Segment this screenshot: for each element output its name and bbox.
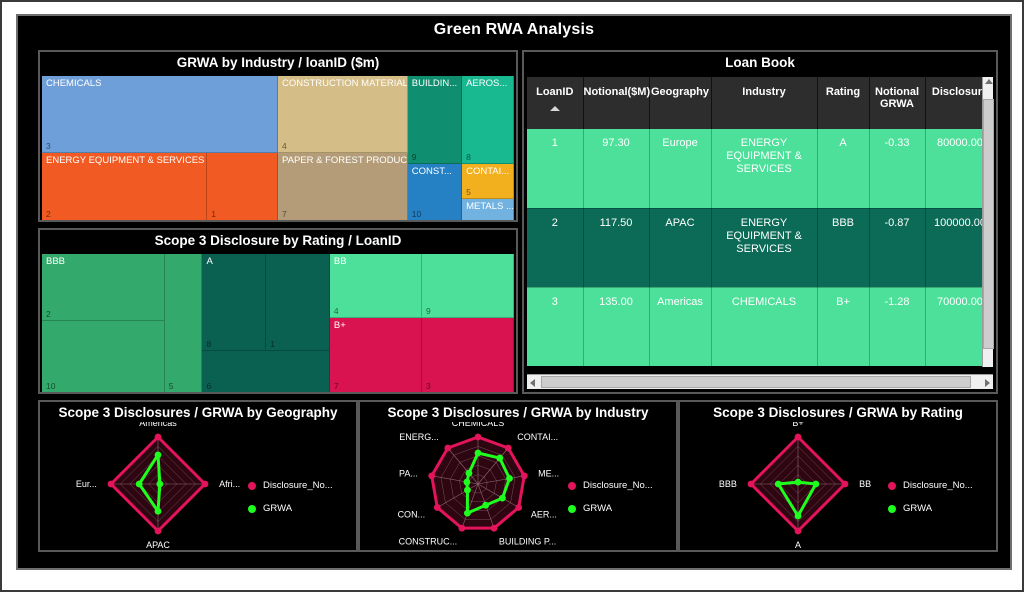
scroll-left-arrow-icon[interactable] xyxy=(530,379,535,387)
table-row[interactable]: 3135.00AmericasCHEMICALSB+-1.2870000.00 xyxy=(527,287,982,366)
treemap-tile-id: 8 xyxy=(466,152,471,162)
cell-industry: CHEMICALS xyxy=(711,287,817,366)
treemap-tile[interactable]: 6 xyxy=(202,351,329,393)
treemap-tile-id: 7 xyxy=(282,209,287,219)
radar-data-point xyxy=(155,451,162,458)
cell-industry: ENERGY EQUIPMENT & SERVICES xyxy=(711,208,817,287)
treemap-tile-id: 4 xyxy=(282,141,287,151)
radar-axis-label: CON... xyxy=(398,510,426,520)
col-header-notional[interactable]: Notional($M) xyxy=(583,77,649,129)
legend-swatch-icon xyxy=(248,505,256,513)
col-label-notional-grwa-l2: GRWA xyxy=(880,98,914,110)
treemap-tile-id: 9 xyxy=(412,152,417,162)
radar-data-point xyxy=(155,434,162,441)
treemap-tile-id: 8 xyxy=(206,339,211,349)
treemap-tile[interactable]: AEROS...8 xyxy=(462,76,514,164)
col-header-disclosure[interactable]: Disclosure xyxy=(925,77,982,129)
radar-data-point xyxy=(108,481,115,488)
radar-legend: Disclosure_No...GRWA xyxy=(888,480,973,526)
treemap-tile-id: 7 xyxy=(334,381,339,391)
treemap-tile-label: CONSTRUCTION MATERIALS xyxy=(282,78,408,89)
radar-data-point xyxy=(496,455,503,462)
cell-geography: APAC xyxy=(649,208,711,287)
legend-item[interactable]: Disclosure_No... xyxy=(568,480,653,491)
loan-book-table[interactable]: LoanID Notional($M) Geography Industry R… xyxy=(527,77,982,367)
cell-geography: Americas xyxy=(649,287,711,366)
legend-swatch-icon xyxy=(568,482,576,490)
treemap-tile[interactable]: CONST...10 xyxy=(408,164,462,221)
total-label: Total xyxy=(527,366,583,367)
radar-axis-label: ENERG... xyxy=(399,432,439,442)
treemap-tile-label: B+ xyxy=(334,320,346,331)
treemap-tile-id: 10 xyxy=(46,381,55,391)
treemap-tile-id: 1 xyxy=(270,339,275,349)
panel-radar-rating[interactable]: Scope 3 Disclosures / GRWA by Rating B+B… xyxy=(678,400,998,552)
total-industry xyxy=(711,366,817,367)
treemap-tile-id: 5 xyxy=(466,187,471,197)
col-header-geography[interactable]: Geography xyxy=(649,77,711,129)
treemap-tile[interactable]: 1 xyxy=(207,153,278,221)
loan-book-table-area[interactable]: LoanID Notional($M) Geography Industry R… xyxy=(527,77,993,389)
legend-label: Disclosure_No... xyxy=(903,480,973,491)
radar-axis-label: B+ xyxy=(792,422,803,428)
panel-title-grwa-by-industry: GRWA by Industry / loanID ($m) xyxy=(40,52,516,74)
radar-axis-label: A xyxy=(795,540,801,550)
treemap-rating[interactable]: BBB2105A816BB49B+73 xyxy=(42,254,514,393)
treemap-tile[interactable]: METALS ... xyxy=(462,199,514,221)
radar-axis-label: Afri... xyxy=(219,479,240,489)
scroll-right-arrow-icon[interactable] xyxy=(985,379,990,387)
cell-notional-grwa: -0.33 xyxy=(869,129,925,208)
radar-data-point xyxy=(505,445,512,452)
radar-data-point xyxy=(434,504,441,511)
radar-data-point xyxy=(155,528,162,535)
vertical-scroll-thumb[interactable] xyxy=(983,99,994,349)
table-row[interactable]: 2117.50APACENERGY EQUIPMENT & SERVICESBB… xyxy=(527,208,982,287)
cell-loan-id: 1 xyxy=(527,129,583,208)
cell-disclosure: 70000.00 xyxy=(925,287,982,366)
panel-title-scope3-by-rating: Scope 3 Disclosure by Rating / LoanID xyxy=(40,230,516,252)
radar-axis-label: ME... xyxy=(538,468,559,478)
treemap-tile-label: METALS ... xyxy=(466,201,514,212)
radar-data-point xyxy=(842,481,849,488)
radar-data-point xyxy=(463,479,470,486)
treemap-tile-label: CONTAI... xyxy=(466,166,509,177)
treemap-tile[interactable]: CHEMICALS3 xyxy=(42,76,278,153)
radar-axis-label: BUILDING P... xyxy=(499,536,556,546)
cell-rating: B+ xyxy=(817,287,869,366)
treemap-tile[interactable]: PAPER & FOREST PRODUCTS7 xyxy=(278,153,408,221)
radar-axis-label: Eur... xyxy=(76,479,97,489)
radar-data-point xyxy=(444,445,451,452)
cell-loan-id: 2 xyxy=(527,208,583,287)
treemap-tile[interactable]: CONSTRUCTION MATERIALS4 xyxy=(278,76,408,153)
treemap-tile[interactable]: 1 xyxy=(266,254,330,351)
radar-data-point xyxy=(506,475,513,482)
treemap-tile[interactable]: 5 xyxy=(165,254,203,393)
treemap-tile-id: 4 xyxy=(334,306,339,316)
treemap-tile-id: 3 xyxy=(46,141,51,151)
radar-axis-label: CHEMICALS xyxy=(452,422,505,428)
treemap-tile[interactable]: BB4 xyxy=(330,254,422,318)
radar-axis-label: CONTAI... xyxy=(517,432,558,442)
radar-legend: Disclosure_No...GRWA xyxy=(568,480,653,526)
legend-label: GRWA xyxy=(583,503,612,514)
radar-data-point xyxy=(795,528,802,535)
horizontal-scroll-thumb[interactable] xyxy=(541,376,971,388)
radar-data-point xyxy=(156,481,163,488)
treemap-tile-label: AEROS... xyxy=(466,78,507,89)
treemap-tile[interactable]: ENERGY EQUIPMENT & SERVICES2 xyxy=(42,153,207,221)
table-header-row: LoanID Notional($M) Geography Industry R… xyxy=(527,77,982,129)
treemap-tile-id: 3 xyxy=(426,381,431,391)
panel-title-radar-rating: Scope 3 Disclosures / GRWA by Rating xyxy=(680,402,996,424)
treemap-tile-label: CHEMICALS xyxy=(46,78,101,89)
radar-data-point xyxy=(521,472,528,479)
radar-data-point xyxy=(775,481,782,488)
radar-data-point xyxy=(155,508,162,515)
cell-disclosure: 80000.00 xyxy=(925,129,982,208)
total-notional: 901.40 xyxy=(583,366,649,367)
legend-label: Disclosure_No... xyxy=(263,480,333,491)
radar-axis-label: BB xyxy=(859,479,871,489)
col-header-notional-grwa[interactable]: Notional GRWA xyxy=(869,77,925,129)
treemap-tile-label: BB xyxy=(334,256,347,267)
cell-rating: BBB xyxy=(817,208,869,287)
radar-legend: Disclosure_No...GRWA xyxy=(248,480,333,526)
treemap-tile-id: 5 xyxy=(169,381,174,391)
legend-label: GRWA xyxy=(263,503,292,514)
treemap-tile-id: 10 xyxy=(412,209,421,219)
legend-item[interactable]: GRWA xyxy=(568,503,653,514)
legend-item[interactable]: Disclosure_No... xyxy=(888,480,973,491)
legend-swatch-icon xyxy=(888,482,896,490)
radar-data-point xyxy=(812,481,819,488)
radar-axis-label: Americas xyxy=(139,422,177,428)
treemap-tile-label: BBB xyxy=(46,256,65,267)
scroll-up-arrow-icon[interactable] xyxy=(985,79,993,84)
dashboard-canvas: Green RWA Analysis GRWA by Industry / lo… xyxy=(16,14,1012,570)
treemap-tile[interactable]: BBB2 xyxy=(42,254,165,321)
radar-data-point xyxy=(428,472,435,479)
treemap-tile[interactable]: BUILDIN...9 xyxy=(408,76,462,164)
panel-loan-book[interactable]: Loan Book LoanID Notional($M) Geography xyxy=(522,50,998,394)
cell-notional-grwa: -1.28 xyxy=(869,287,925,366)
loan-book-scrollport[interactable]: LoanID Notional($M) Geography Industry R… xyxy=(527,77,982,367)
radar-data-point xyxy=(202,481,209,488)
cell-notional: 117.50 xyxy=(583,208,649,287)
radar-data-point xyxy=(515,504,522,511)
legend-item[interactable]: GRWA xyxy=(248,503,333,514)
treemap-tile[interactable]: 9 xyxy=(422,254,514,318)
legend-item[interactable]: GRWA xyxy=(888,503,973,514)
legend-swatch-icon xyxy=(888,505,896,513)
col-label-notional-grwa-l1: Notional xyxy=(875,86,919,98)
treemap-tile-id: 9 xyxy=(426,306,431,316)
treemap-industry[interactable]: CHEMICALS3ENERGY EQUIPMENT & SERVICES21C… xyxy=(42,76,514,221)
panel-grwa-by-industry[interactable]: GRWA by Industry / loanID ($m) CHEMICALS… xyxy=(38,50,518,222)
cell-rating: A xyxy=(817,129,869,208)
treemap-tile-id: 1 xyxy=(211,209,216,219)
radar-axis-label: PA... xyxy=(399,468,418,478)
treemap-tile-label: BUILDIN... xyxy=(412,78,457,89)
radar-data-point xyxy=(459,525,466,532)
panel-title-radar-geography: Scope 3 Disclosures / GRWA by Geography xyxy=(40,402,356,424)
radar-axis-label: APAC xyxy=(146,540,170,550)
legend-swatch-icon xyxy=(568,505,576,513)
radar-axis-label: CONSTRUC... xyxy=(399,536,458,546)
table-horizontal-scrollbar[interactable] xyxy=(527,374,993,389)
radar-data-point xyxy=(795,479,802,486)
dashboard-title: Green RWA Analysis xyxy=(18,21,1010,39)
col-header-industry[interactable]: Industry xyxy=(711,77,817,129)
radar-data-point xyxy=(464,487,471,494)
panel-radar-industry[interactable]: Scope 3 Disclosures / GRWA by Industry C… xyxy=(358,400,678,552)
cell-industry: ENERGY EQUIPMENT & SERVICES xyxy=(711,129,817,208)
treemap-tile-label: ENERGY EQUIPMENT & SERVICES xyxy=(46,155,204,166)
radar-data-point xyxy=(136,481,143,488)
cell-notional: 135.00 xyxy=(583,287,649,366)
treemap-tile[interactable]: 10 xyxy=(42,321,165,393)
panel-scope3-by-rating[interactable]: Scope 3 Disclosure by Rating / LoanID BB… xyxy=(38,228,518,394)
sort-asc-icon xyxy=(550,106,560,111)
radar-data-point xyxy=(795,513,802,520)
panel-title-loan-book: Loan Book xyxy=(524,52,996,74)
radar-axis-label: BBB xyxy=(719,479,737,489)
total-notional-grwa: -5.46 xyxy=(869,366,925,367)
table-total-row: Total 901.40 -5.46 812000.0 xyxy=(527,366,982,367)
cell-notional: 97.30 xyxy=(583,129,649,208)
panel-title-radar-industry: Scope 3 Disclosures / GRWA by Industry xyxy=(360,402,676,424)
cell-geography: Europe xyxy=(649,129,711,208)
treemap-tile-id: 2 xyxy=(46,309,51,319)
radar-data-point xyxy=(464,510,471,517)
col-header-loanid[interactable]: LoanID xyxy=(527,77,583,129)
legend-label: Disclosure_No... xyxy=(583,480,653,491)
treemap-tile-label: PAPER & FOREST PRODUCTS xyxy=(282,155,408,166)
table-row[interactable]: 197.30EuropeENERGY EQUIPMENT & SERVICESA… xyxy=(527,129,982,208)
table-vertical-scrollbar[interactable] xyxy=(982,77,993,367)
treemap-tile-label: A xyxy=(206,256,212,267)
treemap-tile[interactable]: CONTAI...5 xyxy=(462,164,514,199)
treemap-tile[interactable]: 3 xyxy=(422,318,514,393)
treemap-tile-id: 6 xyxy=(206,381,211,391)
cell-notional-grwa: -0.87 xyxy=(869,208,925,287)
total-rating xyxy=(817,366,869,367)
radar-data-point xyxy=(499,495,506,502)
radar-data-point xyxy=(748,481,755,488)
treemap-tile-label: CONST... xyxy=(412,166,452,177)
panel-radar-geography[interactable]: Scope 3 Disclosures / GRWA by Geography … xyxy=(38,400,358,552)
legend-label: GRWA xyxy=(903,503,932,514)
legend-swatch-icon xyxy=(248,482,256,490)
treemap-tile-id: 2 xyxy=(46,209,51,219)
radar-data-point xyxy=(482,502,489,509)
radar-axis-label: AER... xyxy=(531,510,557,520)
radar-data-point xyxy=(466,470,473,477)
screenshot-root: Green RWA Analysis GRWA by Industry / lo… xyxy=(0,0,1024,592)
treemap-tile[interactable]: B+7 xyxy=(330,318,422,393)
radar-data-point xyxy=(491,525,498,532)
col-header-rating[interactable]: Rating xyxy=(817,77,869,129)
radar-data-point xyxy=(795,434,802,441)
total-disclosure: 812000.0 xyxy=(925,366,982,367)
col-label-loanid: LoanID xyxy=(536,86,573,98)
cell-loan-id: 3 xyxy=(527,287,583,366)
radar-data-point xyxy=(475,434,482,441)
cell-disclosure: 100000.00 xyxy=(925,208,982,287)
treemap-tile[interactable]: A8 xyxy=(202,254,266,351)
radar-data-point xyxy=(475,450,482,457)
legend-item[interactable]: Disclosure_No... xyxy=(248,480,333,491)
total-geography xyxy=(649,366,711,367)
